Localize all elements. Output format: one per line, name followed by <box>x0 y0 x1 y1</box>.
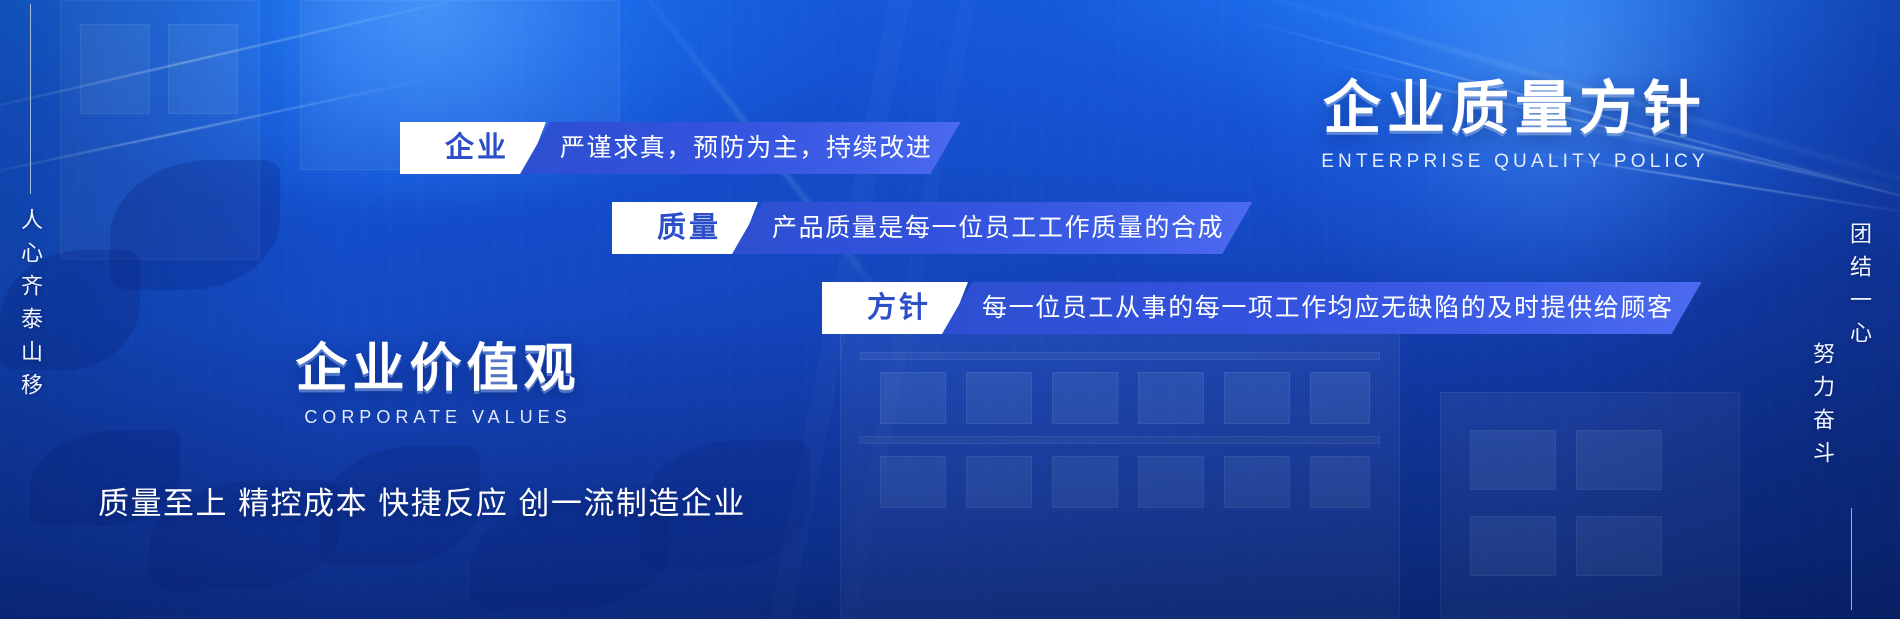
policy-banner-text: 产品质量是每一位员工工作质量的合成 <box>772 216 1224 241</box>
left-vertical-motto: 人心齐泰山移 <box>14 208 46 406</box>
policy-banner-text: 每一位员工从事的每一项工作均应无缺陷的及时提供给顾客 <box>982 296 1674 321</box>
right-vertical-motto-first: 团结一心 <box>1843 222 1875 354</box>
policy-title: 企业质量方针 <box>1235 78 1795 139</box>
policy-subtitle: ENTERPRISE QUALITY POLICY <box>1235 151 1795 173</box>
policy-banner-guideline: 每一位员工从事的每一项工作均应无缺陷的及时提供给顾客 <box>942 282 1702 334</box>
policy-tag-enterprise: 企业 <box>400 122 546 174</box>
policy-banner-quality: 产品质量是每一位员工工作质量的合成 <box>732 202 1252 254</box>
policy-banner-text: 严谨求真，预防为主，持续改进 <box>560 136 932 161</box>
right-decorative-line <box>1851 508 1852 610</box>
policy-tag-guideline: 方针 <box>822 282 968 334</box>
policy-tag-label: 企业 <box>445 134 509 163</box>
policy-banner-enterprise: 严谨求真，预防为主，持续改进 <box>520 122 960 174</box>
policy-row-enterprise: 企业 严谨求真，预防为主，持续改进 <box>400 122 960 174</box>
left-decorative-line <box>30 4 31 194</box>
values-subtitle: CORPORATE VALUES <box>228 407 648 428</box>
banner-stage: 企业质量方针 ENTERPRISE QUALITY POLICY 企业 严谨求真… <box>0 0 1900 619</box>
policy-heading-block: 企业质量方针 ENTERPRISE QUALITY POLICY <box>1235 78 1795 173</box>
values-heading-block: 企业价值观 CORPORATE VALUES <box>228 342 648 428</box>
policy-tag-label: 方针 <box>867 294 931 323</box>
policy-row-guideline: 方针 每一位员工从事的每一项工作均应无缺陷的及时提供给顾客 <box>822 282 1702 334</box>
policy-row-quality: 质量 产品质量是每一位员工工作质量的合成 <box>612 202 1252 254</box>
values-title: 企业价值观 <box>228 342 648 397</box>
policy-tag-label: 质量 <box>657 214 721 243</box>
right-vertical-motto-second: 努力奋斗 <box>1806 342 1838 474</box>
values-slogan: 质量至上 精控成本 快捷反应 创一流制造企业 <box>98 478 746 523</box>
policy-tag-quality: 质量 <box>612 202 758 254</box>
